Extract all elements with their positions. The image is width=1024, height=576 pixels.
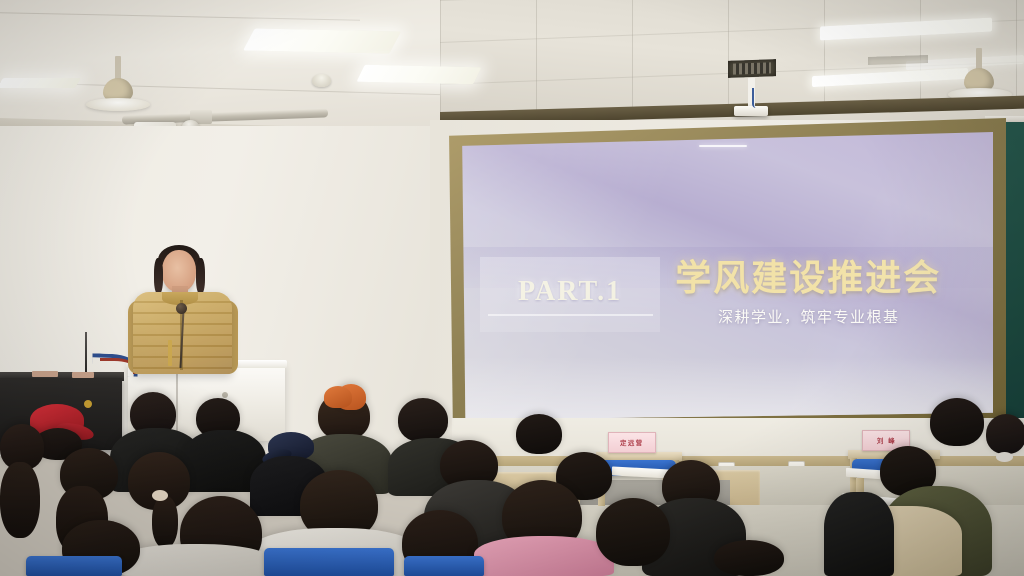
av-rack-tape-1 — [32, 371, 58, 377]
name-card-text: 刘 峰 — [876, 436, 895, 445]
panel-light-1 — [243, 28, 401, 53]
lectern-panel-seam — [176, 368, 178, 438]
audience-torso — [824, 492, 894, 576]
panel-light-3 — [0, 78, 81, 88]
screen-bottom-falloff — [459, 357, 993, 420]
hair-tie — [152, 490, 168, 501]
slide-title: 学风建设推进会 — [675, 249, 941, 301]
audience-head — [930, 398, 984, 446]
fan-rod-left — [115, 56, 121, 80]
gooseneck-microphone[interactable] — [176, 303, 187, 314]
panel-light-2 — [356, 65, 481, 84]
audience-head — [516, 414, 562, 454]
ceiling-fan-mount-left — [86, 98, 150, 111]
audience-head — [596, 498, 670, 566]
slide-part-label: PART.1 — [518, 276, 622, 308]
presenter-hair-right — [196, 258, 205, 294]
fan-rod-right — [976, 48, 982, 70]
slide-accent-line — [699, 145, 747, 148]
name-card-text: 定远营 — [620, 438, 643, 447]
audience-ponytail — [152, 496, 178, 548]
av-rack-tape-2 — [72, 372, 94, 378]
projector-cable — [752, 88, 756, 108]
audience-head — [986, 414, 1024, 454]
antenna — [85, 332, 87, 376]
presenter-lanyard — [168, 340, 172, 366]
audience-head — [398, 398, 448, 442]
ceiling-projector — [734, 106, 768, 116]
slide-subtitle: 深耕学业，筑牢专业根基 — [718, 306, 900, 327]
hair-tie — [996, 452, 1013, 462]
orange-hat — [324, 386, 352, 408]
desk-name-card: 定远营 — [608, 432, 656, 453]
audience-head — [714, 540, 784, 576]
pink-hoodie — [474, 536, 614, 576]
audience-long-hair — [0, 462, 40, 538]
av-rack-connector[interactable] — [84, 400, 92, 408]
lecture-hall-photo: PART.1 学风建设推进会 深耕学业，筑牢专业根基 — [0, 0, 1024, 576]
lectern-knob[interactable] — [222, 392, 228, 398]
projection-screen[interactable]: PART.1 学风建设推进会 深耕学业，筑牢专业根基 — [459, 132, 993, 420]
smoke-detector — [312, 74, 331, 87]
student-chair — [264, 548, 394, 576]
presenter-hair-left — [154, 258, 163, 294]
air-conditioner-vent — [728, 59, 776, 78]
grey-hoodie — [120, 544, 270, 576]
student-chair — [404, 556, 484, 576]
student-chair — [26, 556, 122, 576]
slide-part-box: PART.1 — [480, 257, 659, 332]
